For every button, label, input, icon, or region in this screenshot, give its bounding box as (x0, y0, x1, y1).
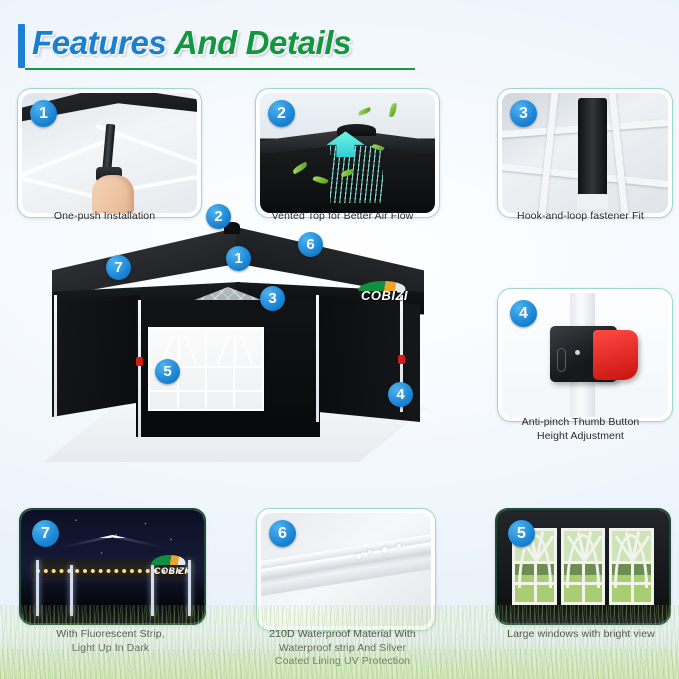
badge-2: 2 (268, 100, 295, 127)
red-thumb-lever (593, 330, 638, 380)
feature-card-4[interactable]: 4 (497, 288, 673, 422)
badge-3: 3 (510, 100, 537, 127)
badge-4: 4 (510, 300, 537, 327)
hero-callout-5[interactable]: 5 (155, 359, 180, 384)
hero-callout-6[interactable]: 6 (298, 232, 323, 257)
badge-6: 6 (269, 520, 296, 547)
badge-7: 7 (32, 520, 59, 547)
feature-caption-4-line1: Anti-pinch Thumb Button (492, 416, 669, 430)
leg-thumb-button (398, 355, 405, 364)
hero-callout-1[interactable]: 1 (226, 246, 251, 271)
hero-callout-3[interactable]: 3 (260, 286, 285, 311)
hero-canopy-image: COBIZI 2 1 6 7 3 5 4 (28, 212, 428, 462)
hero-callout-7[interactable]: 7 (106, 255, 131, 280)
hero-callout-2[interactable]: 2 (206, 204, 231, 229)
leg-cap (577, 194, 609, 210)
window-pane (609, 528, 653, 605)
title-underline (25, 68, 415, 70)
infographic-page: Features And Details 1 One-push Installa… (0, 0, 679, 679)
feature-card-2[interactable]: 2 (255, 88, 440, 218)
feature-caption-3: Hook-and-loop fastener Fit (492, 210, 669, 224)
feature-card-3[interactable]: 3 (497, 88, 673, 218)
feature-card-1[interactable]: 1 (17, 88, 202, 218)
sidewall-left (52, 295, 140, 418)
logo-text: COBIZI (361, 288, 408, 303)
feature-caption-4-line2: Height Adjustment (492, 430, 669, 444)
page-title-primary: Features (32, 24, 166, 61)
corner-leg (578, 98, 606, 208)
page-title-secondary: And Details (174, 24, 351, 61)
window-row (512, 528, 653, 605)
leg-thumb-button (136, 357, 143, 366)
brand-logo-night: COBIZI (154, 561, 188, 579)
grass-decoration (0, 605, 679, 679)
badge-5: 5 (508, 520, 535, 547)
logo-text: COBIZI (154, 566, 188, 576)
housing-slot (557, 348, 566, 372)
hand (92, 175, 134, 213)
brand-logo-hero: COBIZI (361, 287, 408, 305)
window-pane (561, 528, 605, 605)
title-accent-bar (18, 24, 25, 68)
page-title: Features And Details (32, 22, 351, 64)
badge-1: 1 (30, 100, 57, 127)
hero-callout-4[interactable]: 4 (388, 382, 413, 407)
feature-caption-4: Anti-pinch Thumb Button Height Adjustmen… (492, 416, 669, 443)
page-title-block: Features And Details (18, 22, 351, 70)
